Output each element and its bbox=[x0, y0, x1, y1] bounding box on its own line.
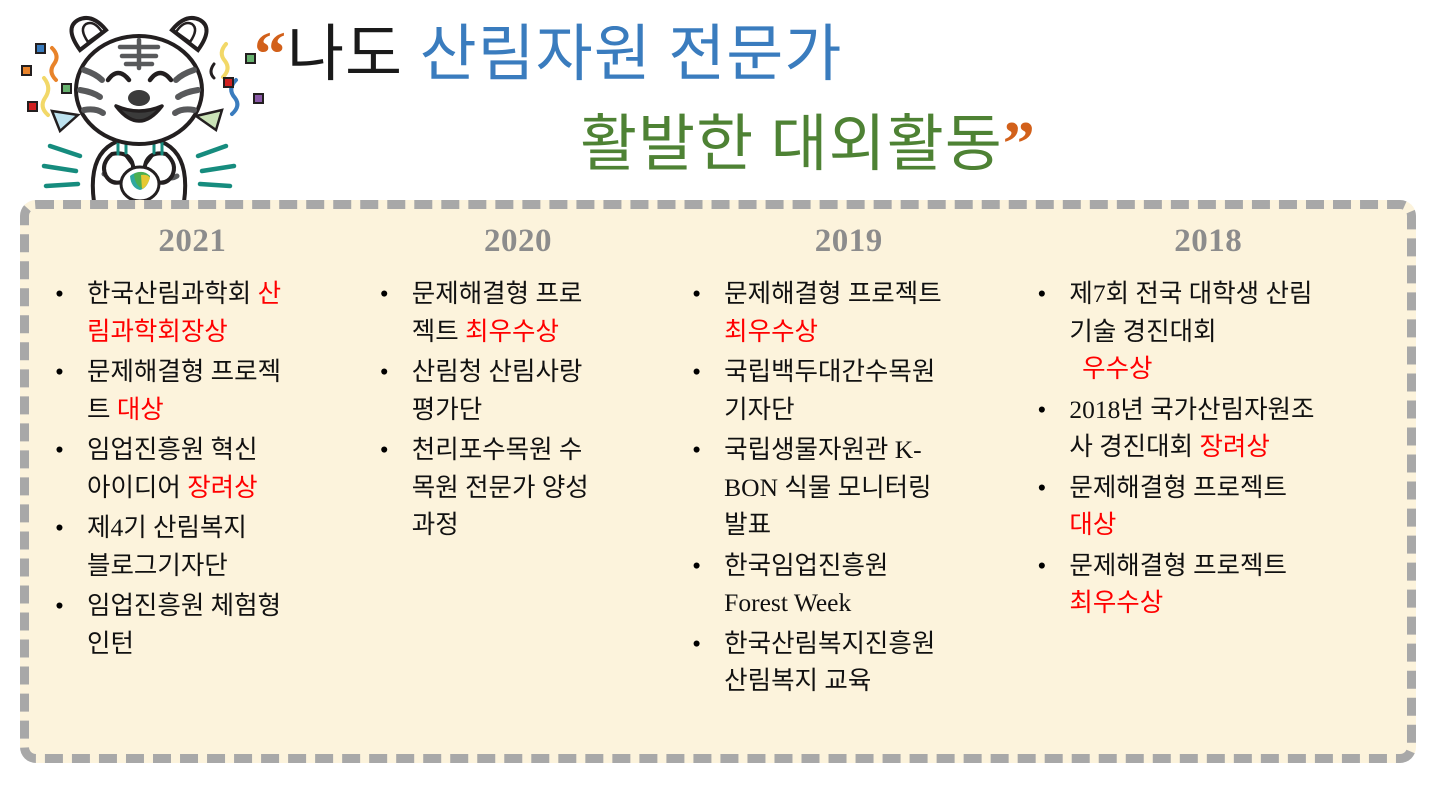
year-columns-container: 2021•한국산림과학회 산림과학회장상•문제해결형 프로젝트 대상•임업진흥원… bbox=[29, 209, 1407, 754]
activity-item: •천리포수목원 수목원 전문가 양성과정 bbox=[368, 431, 664, 543]
activity-item: •제4기 산림복지블로그기자단 bbox=[43, 509, 349, 584]
activity-text: 아이디어 bbox=[87, 473, 187, 502]
activity-item: •문제해결형 프로젝트최우수상 bbox=[680, 275, 1024, 350]
bullet-icon: • bbox=[380, 353, 389, 390]
activity-item: •문제해결형 프로젝트최우수상 bbox=[1025, 547, 1395, 622]
activity-line: 임업진흥원 체험형 bbox=[87, 587, 349, 624]
bullet-icon: • bbox=[692, 275, 701, 312]
activity-text: 천리포수목원 수 bbox=[412, 435, 583, 464]
header-banner: “나도 산림자원 전문가 활발한 대외활동” bbox=[0, 0, 1438, 196]
activity-line: 최우수상 bbox=[1069, 584, 1395, 621]
year-heading-2020: 2020 bbox=[368, 223, 668, 259]
title-line-1: “나도 산림자원 전문가 bbox=[254, 22, 842, 86]
activity-text: 국립생물자원관 K- bbox=[724, 435, 922, 464]
activity-text: 제7회 전국 대학생 산림 bbox=[1069, 279, 1312, 308]
activity-text: 제4기 산림복지 bbox=[87, 513, 247, 542]
activity-text: 트 bbox=[87, 395, 117, 424]
year-heading-2018: 2018 bbox=[1019, 223, 1397, 259]
activity-line: 림과학회장상 bbox=[87, 313, 349, 350]
activity-text: 한국산림과학회 bbox=[87, 279, 258, 308]
activity-line: 최우수상 bbox=[724, 313, 1024, 350]
activity-list-2021: •한국산림과학회 산림과학회장상•문제해결형 프로젝트 대상•임업진흥원 혁신아… bbox=[43, 275, 356, 662]
award-label: 최우수상 bbox=[724, 317, 818, 346]
activity-line: 문제해결형 프로젝트 bbox=[1069, 469, 1395, 506]
activity-text: 평가단 bbox=[412, 395, 482, 424]
bullet-icon: • bbox=[692, 625, 701, 662]
activity-item: •문제해결형 프로젝트 최우수상 bbox=[368, 275, 664, 350]
year-heading-2021: 2021 bbox=[29, 223, 356, 259]
activity-line: Forest Week bbox=[724, 584, 1024, 621]
activity-item: •임업진흥원 체험형인턴 bbox=[43, 587, 349, 662]
activity-item: •임업진흥원 혁신아이디어 장려상 bbox=[43, 431, 349, 506]
activity-text: 기자단 bbox=[724, 395, 794, 424]
award-label: 대상 bbox=[117, 395, 164, 424]
activity-text: 발표 bbox=[724, 510, 771, 539]
activity-item: •한국산림복지진흥원산림복지 교육 bbox=[680, 625, 1024, 700]
activity-text: 블로그기자단 bbox=[87, 551, 228, 580]
activity-line: 사 경진대회 장려상 bbox=[1069, 428, 1395, 465]
bullet-icon: • bbox=[1037, 547, 1046, 584]
activity-line: 문제해결형 프로젝트 bbox=[1069, 547, 1395, 584]
activity-text: 기술 경진대회 bbox=[1069, 317, 1216, 346]
activity-line: 2018년 국가산림자원조 bbox=[1069, 391, 1395, 428]
activity-text: 문제해결형 프로젝트 bbox=[1069, 551, 1287, 580]
bullet-icon: • bbox=[1037, 469, 1046, 506]
bullet-icon: • bbox=[380, 431, 389, 468]
activity-text: 목원 전문가 양성 bbox=[412, 473, 589, 502]
bullet-icon: • bbox=[55, 275, 64, 312]
activity-text: 문제해결형 프로젝 bbox=[87, 357, 281, 386]
activity-item: •문제해결형 프로젝트대상 bbox=[1025, 469, 1395, 544]
award-label: 최우수상 bbox=[1069, 588, 1163, 617]
activity-text: 과정 bbox=[412, 510, 459, 539]
activity-text: 젝트 bbox=[412, 317, 465, 346]
bullet-icon: • bbox=[55, 509, 64, 546]
activity-text: 문제해결형 프로젝트 bbox=[724, 279, 942, 308]
page-title: “나도 산림자원 전문가 활발한 대외활동” bbox=[250, 8, 1430, 196]
activity-item: •제7회 전국 대학생 산림기술 경진대회 우수상 bbox=[1025, 275, 1395, 387]
award-label: 최우수상 bbox=[465, 317, 559, 346]
bullet-icon: • bbox=[1037, 391, 1046, 428]
title-text-blue: 산림자원 전문가 bbox=[420, 21, 843, 89]
activity-line: 산림청 산림사랑 bbox=[412, 353, 664, 390]
activities-panel: 2021•한국산림과학회 산림과학회장상•문제해결형 프로젝트 대상•임업진흥원… bbox=[20, 200, 1416, 763]
activity-line: 대상 bbox=[1069, 506, 1395, 543]
award-label: 대상 bbox=[1069, 510, 1116, 539]
activity-line: 발표 bbox=[724, 506, 1024, 543]
bullet-icon: • bbox=[55, 431, 64, 468]
activity-line: 문제해결형 프로젝트 bbox=[724, 275, 1024, 312]
activity-line: 인턴 bbox=[87, 625, 349, 662]
activity-item: •2018년 국가산림자원조사 경진대회 장려상 bbox=[1025, 391, 1395, 466]
bullet-icon: • bbox=[1037, 275, 1046, 312]
title-text-green: 활발한 대외활동 bbox=[580, 111, 1003, 179]
award-label: 우수상 bbox=[1069, 354, 1152, 383]
activity-line: BON 식물 모니터링 bbox=[724, 469, 1024, 506]
activity-item: •국립백두대간수목원기자단 bbox=[680, 353, 1024, 428]
activity-line: 문제해결형 프로 bbox=[412, 275, 664, 312]
tiger-mascot-icon bbox=[8, 6, 270, 202]
activity-list-2018: •제7회 전국 대학생 산림기술 경진대회 우수상•2018년 국가산림자원조사… bbox=[1025, 275, 1397, 621]
award-label: 림과학회장상 bbox=[87, 317, 228, 346]
activity-text: 문제해결형 프로젝트 bbox=[1069, 473, 1287, 502]
title-text-black: 나도 bbox=[287, 21, 420, 89]
bullet-icon: • bbox=[55, 353, 64, 390]
activity-line: 한국산림과학회 산 bbox=[87, 275, 349, 312]
activity-line: 과정 bbox=[412, 506, 664, 543]
activity-line: 아이디어 장려상 bbox=[87, 469, 349, 506]
bullet-icon: • bbox=[692, 353, 701, 390]
year-column-2021: 2021•한국산림과학회 산림과학회장상•문제해결형 프로젝트 대상•임업진흥원… bbox=[33, 223, 362, 744]
bullet-icon: • bbox=[692, 547, 701, 584]
activity-text: Forest Week bbox=[724, 588, 851, 617]
bullet-icon: • bbox=[55, 587, 64, 624]
open-quote-mark: “ bbox=[254, 18, 287, 89]
bullet-icon: • bbox=[692, 431, 701, 468]
award-label: 산 bbox=[258, 279, 281, 308]
activity-line: 기자단 bbox=[724, 391, 1024, 428]
activity-text: 한국산림복지진흥원 bbox=[724, 629, 935, 658]
activity-list-2019: •문제해결형 프로젝트최우수상•국립백두대간수목원기자단•국립생물자원관 K-B… bbox=[680, 275, 1013, 699]
activity-item: •산림청 산림사랑평가단 bbox=[368, 353, 664, 428]
activity-line: 한국임업진흥원 bbox=[724, 547, 1024, 584]
activity-item: •문제해결형 프로젝트 대상 bbox=[43, 353, 349, 428]
activity-text: BON 식물 모니터링 bbox=[724, 473, 931, 502]
activity-list-2020: •문제해결형 프로젝트 최우수상•산림청 산림사랑평가단•천리포수목원 수목원 … bbox=[368, 275, 668, 543]
activity-text: 인턴 bbox=[87, 629, 134, 658]
activity-line: 블로그기자단 bbox=[87, 547, 349, 584]
activity-text: 문제해결형 프로 bbox=[412, 279, 583, 308]
activity-line: 평가단 bbox=[412, 391, 664, 428]
activity-line: 산림복지 교육 bbox=[724, 662, 1024, 699]
activity-item: •한국임업진흥원Forest Week bbox=[680, 547, 1024, 622]
activity-line: 국립생물자원관 K- bbox=[724, 431, 1024, 468]
activity-line: 문제해결형 프로젝 bbox=[87, 353, 349, 390]
activity-line: 목원 전문가 양성 bbox=[412, 469, 664, 506]
activity-line: 제4기 산림복지 bbox=[87, 509, 349, 546]
activity-line: 기술 경진대회 bbox=[1069, 313, 1395, 350]
activity-text: 산림청 산림사랑 bbox=[412, 357, 583, 386]
activity-line: 제7회 전국 대학생 산림 bbox=[1069, 275, 1395, 312]
bullet-icon: • bbox=[380, 275, 389, 312]
activity-text: 산림복지 교육 bbox=[724, 666, 871, 695]
activity-item: •한국산림과학회 산림과학회장상 bbox=[43, 275, 349, 350]
activity-line: 젝트 최우수상 bbox=[412, 313, 664, 350]
activity-text: 한국임업진흥원 bbox=[724, 551, 888, 580]
year-column-2018: 2018•제7회 전국 대학생 산림기술 경진대회 우수상•2018년 국가산림… bbox=[1019, 223, 1403, 744]
activity-line: 임업진흥원 혁신 bbox=[87, 431, 349, 468]
year-column-2019: 2019•문제해결형 프로젝트최우수상•국립백두대간수목원기자단•국립생물자원관… bbox=[674, 223, 1019, 744]
activity-text: 임업진흥원 체험형 bbox=[87, 591, 281, 620]
activity-text: 국립백두대간수목원 bbox=[724, 357, 935, 386]
activity-line: 트 대상 bbox=[87, 391, 349, 428]
activity-line: 우수상 bbox=[1069, 350, 1395, 387]
year-heading-2019: 2019 bbox=[684, 223, 1013, 259]
activity-text: 임업진흥원 혁신 bbox=[87, 435, 258, 464]
activity-text: 사 경진대회 bbox=[1069, 432, 1199, 461]
activity-line: 국립백두대간수목원 bbox=[724, 353, 1024, 390]
year-column-2020: 2020•문제해결형 프로젝트 최우수상•산림청 산림사랑평가단•천리포수목원 … bbox=[362, 223, 674, 744]
close-quote-mark: ” bbox=[1003, 108, 1036, 179]
title-line-2: 활발한 대외활동” bbox=[580, 112, 1036, 176]
activity-item: •국립생물자원관 K-BON 식물 모니터링발표 bbox=[680, 431, 1024, 543]
activity-text: 2018년 국가산림자원조 bbox=[1069, 395, 1314, 424]
award-label: 장려상 bbox=[1199, 432, 1269, 461]
activity-line: 천리포수목원 수 bbox=[412, 431, 664, 468]
award-label: 장려상 bbox=[187, 473, 257, 502]
activity-line: 한국산림복지진흥원 bbox=[724, 625, 1024, 662]
